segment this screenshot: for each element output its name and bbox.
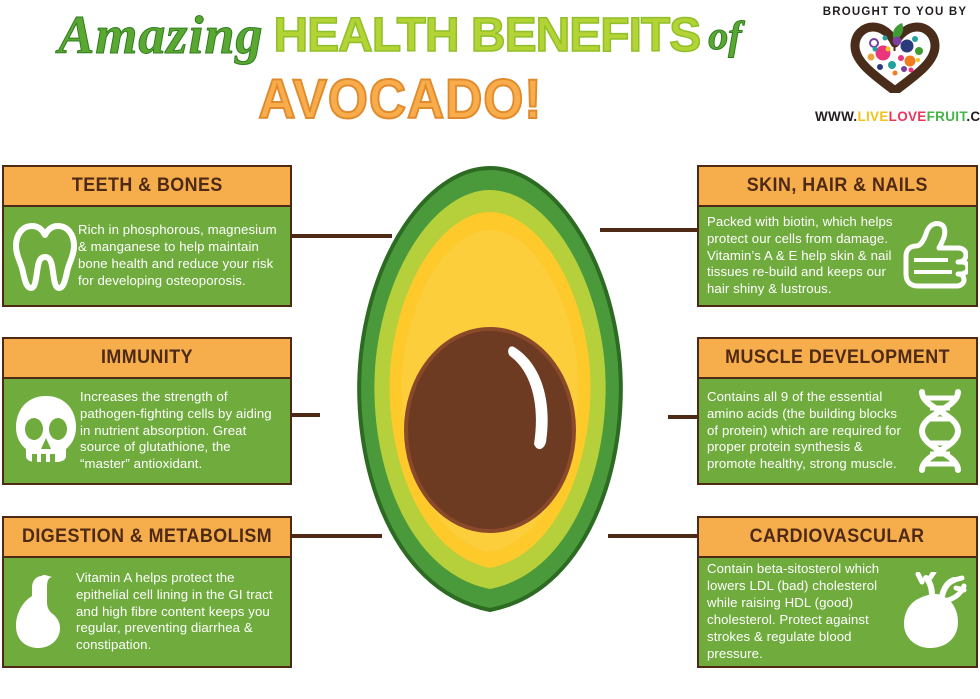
panel-heading-label: MUSCLE DEVELOPMENT	[725, 347, 950, 369]
brand-logo[interactable]: BROUGHT TO YOU BY	[815, 6, 975, 124]
connector-line-muscle	[668, 415, 697, 419]
panel-description-skin: Packed with biotin, which helps protect …	[707, 214, 896, 298]
panel-heading-label: IMMUNITY	[101, 347, 193, 369]
stomach-icon	[12, 572, 76, 652]
panel-body-cardio: Contain beta-sitosterol which lowers LDL…	[699, 558, 976, 666]
skull-icon	[12, 392, 80, 470]
connector-line-digestion	[292, 534, 382, 538]
panel-body-muscle: Contains all 9 of the essential amino ac…	[699, 379, 976, 483]
page-title-line-2: AVOCADO!	[0, 66, 800, 131]
panel-header-cardio: CARDIOVASCULAR	[699, 518, 976, 558]
title-word-health-benefits: HEALTH BENEFITS	[273, 9, 700, 62]
heart-with-fruit-dots-icon	[847, 21, 943, 93]
benefit-panel-digestion-and-metabolism[interactable]: DIGESTION & METABOLISM Vitamin A helps p…	[2, 516, 292, 668]
panel-description-digestion: Vitamin A helps protect the epithelial c…	[76, 570, 282, 654]
url-part-fruit: FRUIT	[927, 109, 967, 124]
panel-header-muscle: MUSCLE DEVELOPMENT	[699, 339, 976, 379]
panel-body-skin: Packed with biotin, which helps protect …	[699, 207, 976, 305]
url-part-love: LOVE	[889, 109, 927, 124]
dna-helix-icon	[912, 388, 968, 474]
benefit-panel-teeth-and-bones[interactable]: TEETH & BONES Rich in phosphorous, magne…	[2, 165, 292, 307]
thumbs-up-icon	[896, 220, 968, 292]
panel-heading-label: TEETH & BONES	[72, 175, 223, 197]
panel-heading-label: DIGESTION & METABOLISM	[22, 526, 272, 548]
benefit-panel-cardiovascular[interactable]: CARDIOVASCULAR Contain beta-sitosterol w…	[697, 516, 978, 668]
panel-description-immunity: Increases the strength of pathogen-fight…	[80, 389, 282, 473]
title-word-of: of	[708, 13, 741, 58]
panel-body-teeth: Rich in phosphorous, magnesium & mangane…	[4, 207, 290, 305]
panel-description-teeth: Rich in phosphorous, magnesium & mangane…	[78, 222, 282, 290]
brought-to-you-by-label: BROUGHT TO YOU BY	[815, 6, 975, 18]
url-part-live: LIVE	[857, 109, 888, 124]
panel-header-teeth: TEETH & BONES	[4, 167, 290, 207]
tooth-icon	[12, 218, 78, 294]
panel-header-skin: SKIN, HAIR & NAILS	[699, 167, 976, 207]
anatomical-heart-icon	[898, 572, 968, 652]
panel-body-immunity: Increases the strength of pathogen-fight…	[4, 379, 290, 483]
url-part-com: .COM	[966, 109, 980, 124]
panel-description-cardio: Contain beta-sitosterol which lowers LDL…	[707, 561, 898, 662]
heart-logo-graphic	[815, 21, 975, 93]
url-part-www: WWW.	[815, 109, 857, 124]
title-word-avocado: AVOCADO!	[258, 66, 542, 131]
connector-line-cardio	[608, 534, 697, 538]
header: AmazingHEALTH BENEFITSof AVOCADO! BROUGH…	[0, 0, 980, 150]
panel-heading-label: SKIN, HAIR & NAILS	[747, 175, 928, 197]
panel-heading-label: CARDIOVASCULAR	[750, 526, 925, 548]
panel-header-immunity: IMMUNITY	[4, 339, 290, 379]
benefit-panel-immunity[interactable]: IMMUNITY Increases the strength of patho…	[2, 337, 292, 485]
benefit-panel-muscle-development[interactable]: MUSCLE DEVELOPMENT Contains all 9 of the…	[697, 337, 978, 485]
panel-header-digestion: DIGESTION & METABOLISM	[4, 518, 290, 558]
connector-line-skin	[600, 228, 697, 232]
connector-line-immunity	[292, 413, 320, 417]
panel-body-digestion: Vitamin A helps protect the epithelial c…	[4, 558, 290, 666]
title-word-amazing: Amazing	[58, 5, 263, 65]
benefit-panel-skin-hair-and-nails[interactable]: SKIN, HAIR & NAILS Packed with biotin, w…	[697, 165, 978, 307]
panel-description-muscle: Contains all 9 of the essential amino ac…	[707, 389, 912, 473]
website-url[interactable]: WWW.LIVELOVEFRUIT.COM	[815, 109, 975, 124]
page-title-line-1: AmazingHEALTH BENEFITSof	[0, 4, 800, 66]
connector-line-teeth	[292, 234, 392, 238]
